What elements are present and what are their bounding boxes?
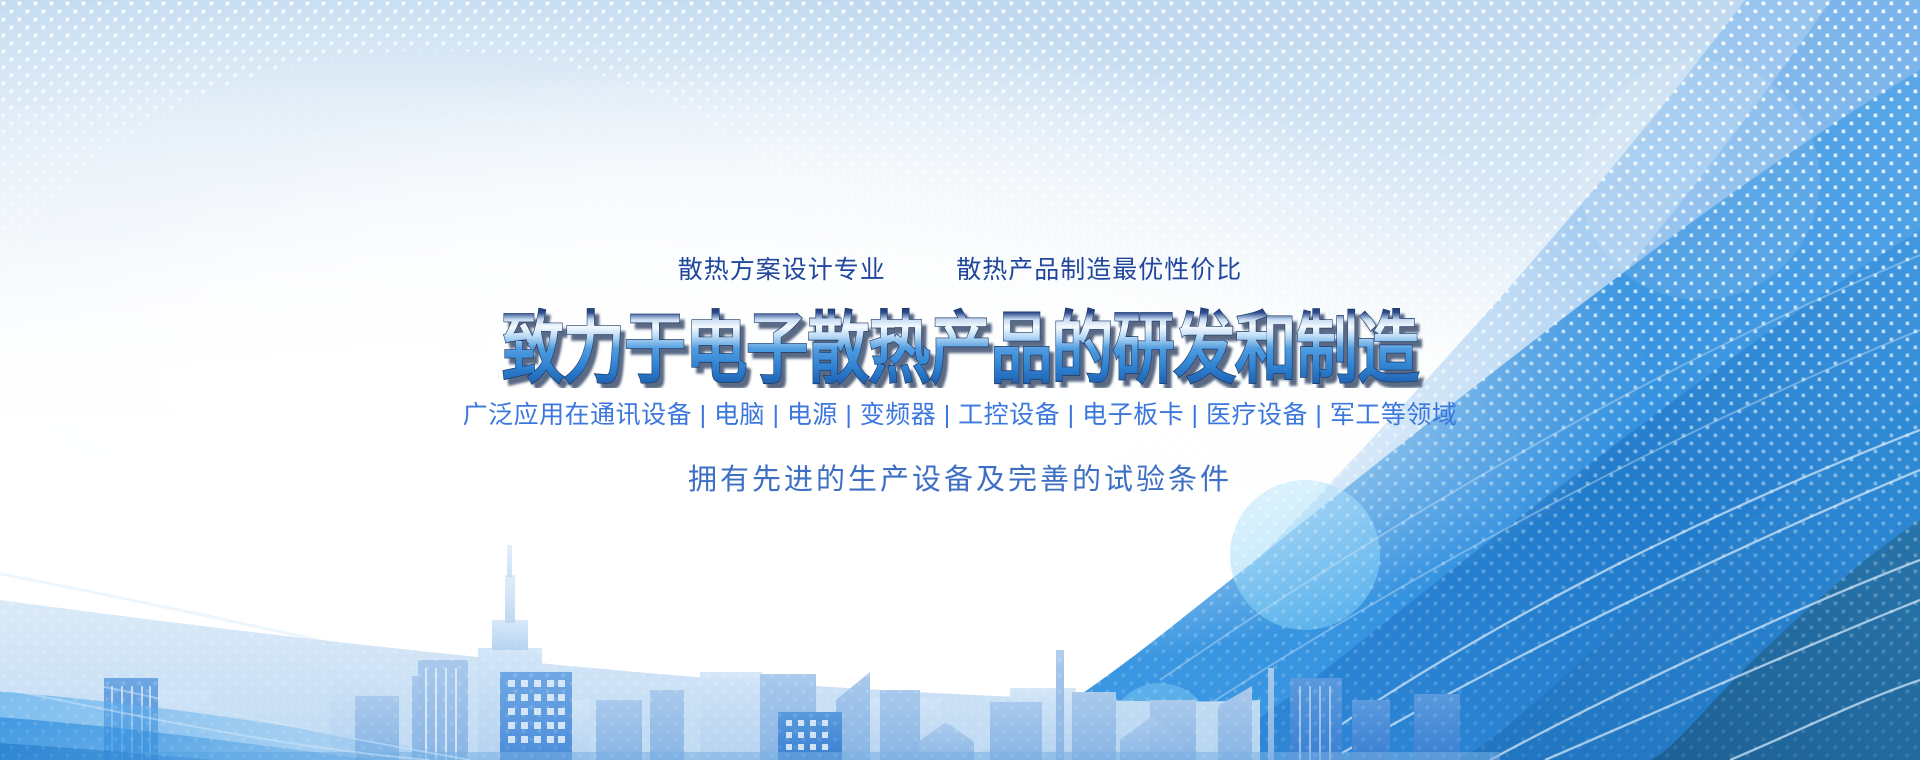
- tagline-design: 散热方案设计专业: [678, 257, 886, 284]
- tagline-row: 散热方案设计专业 散热产品制造最优性价比: [0, 256, 1920, 286]
- headline-text: 致力于电子散热产品的研发和制造: [502, 303, 1420, 388]
- hero-banner: 散热方案设计专业 散热产品制造最优性价比: [0, 0, 1920, 760]
- tagline-manufacturing: 散热产品制造最优性价比: [956, 257, 1242, 284]
- facilities-line: 拥有先进的生产设备及完善的试验条件: [0, 462, 1920, 498]
- headline-wrapper: 致力于电子散热产品的研发和制造: [0, 288, 1920, 388]
- applications-line: 广泛应用在通讯设备 | 电脑 | 电源 | 变频器 | 工控设备 | 电子板卡 …: [0, 400, 1920, 430]
